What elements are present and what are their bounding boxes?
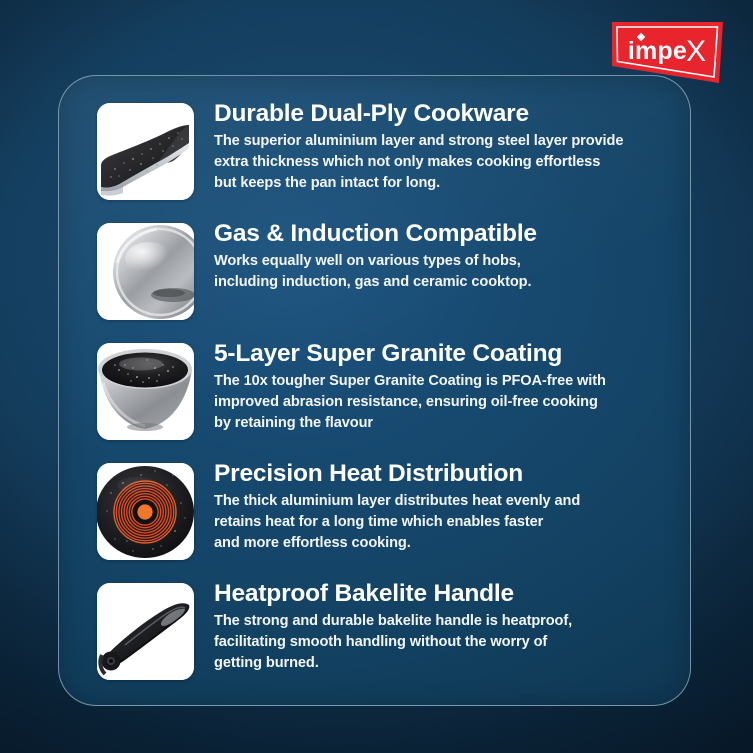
feature-body: The superior aluminium layer and strong …	[214, 131, 623, 193]
feature-heading: Precision Heat Distribution	[214, 460, 580, 487]
feature-heading: Durable Dual-Ply Cookware	[214, 100, 623, 127]
feature-body: The 10x tougher Super Granite Coating is…	[214, 371, 606, 433]
feature-text: 5-Layer Super Granite Coating The 10x to…	[214, 340, 606, 434]
bakelite-handle-icon	[97, 583, 194, 680]
feature-heading: Gas & Induction Compatible	[214, 220, 537, 247]
features-panel: Durable Dual-Ply Cookware The superior a…	[58, 75, 691, 706]
feature-text: Durable Dual-Ply Cookware The superior a…	[214, 100, 623, 194]
pan-rim-cross-section-icon	[97, 103, 194, 200]
feature-body: The strong and durable bakelite handle i…	[214, 611, 572, 673]
heat-distribution-rings-icon	[97, 463, 194, 560]
feature-text: Heatproof Bakelite Handle The strong and…	[214, 580, 572, 674]
feature-row: Heatproof Bakelite Handle The strong and…	[97, 580, 666, 700]
impex-logo-wordmark: impeX	[611, 21, 724, 84]
feature-row: Durable Dual-Ply Cookware The superior a…	[97, 100, 666, 220]
feature-heading: Heatproof Bakelite Handle	[214, 580, 572, 607]
feature-body: The thick aluminium layer distributes he…	[214, 491, 580, 553]
induction-base-disc-icon	[97, 223, 194, 320]
feature-list: Durable Dual-Ply Cookware The superior a…	[59, 76, 690, 705]
feature-row: 5-Layer Super Granite Coating The 10x to…	[97, 340, 666, 460]
feature-heading: 5-Layer Super Granite Coating	[214, 340, 606, 367]
impex-logo-text: impe	[628, 37, 687, 66]
feature-row: Gas & Induction Compatible Works equally…	[97, 220, 666, 340]
feature-text: Gas & Induction Compatible Works equally…	[214, 220, 537, 293]
impex-logo-x: X	[686, 37, 706, 67]
feature-text: Precision Heat Distribution The thick al…	[214, 460, 580, 554]
granite-coated-pan-interior-icon	[97, 343, 194, 440]
feature-body: Works equally well on various types of h…	[214, 251, 537, 292]
impex-logo[interactable]: impeX	[611, 21, 724, 84]
feature-row: Precision Heat Distribution The thick al…	[97, 460, 666, 580]
